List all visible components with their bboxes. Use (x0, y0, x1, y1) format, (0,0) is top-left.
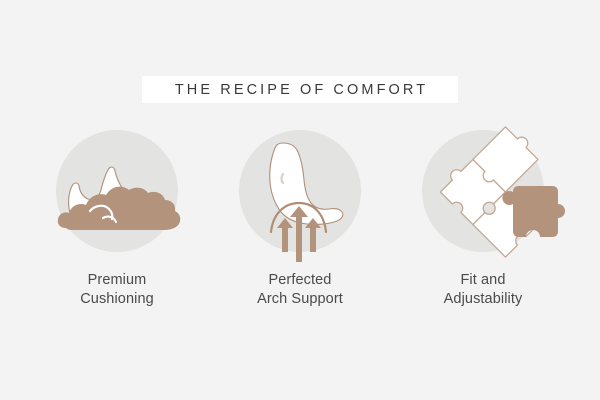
icon-circle-3 (422, 130, 544, 252)
icon-circle-1 (56, 130, 178, 252)
feature-label-1: Premium Cushioning (80, 271, 154, 309)
feature-item-premium-cushioning: Premium Cushioning (26, 130, 209, 309)
puzzle-pieces-icon (408, 120, 558, 270)
feature-label-3: Fit and Adjustability (444, 271, 523, 309)
cushioned-shoe-icon (42, 120, 192, 270)
feature-label-2-line1: Perfected (257, 271, 343, 290)
feature-list: Premium Cushioning (0, 130, 600, 309)
title-banner: THE RECIPE OF COMFORT (142, 76, 458, 103)
feature-label-3-line1: Fit and (444, 271, 523, 290)
feature-item-fit-adjustability: Fit and Adjustability (392, 130, 575, 309)
feature-label-2: Perfected Arch Support (257, 271, 343, 309)
icon-circle-2 (239, 130, 361, 252)
feature-label-1-line2: Cushioning (80, 290, 154, 309)
feature-label-1-line1: Premium (80, 271, 154, 290)
feature-item-arch-support: Perfected Arch Support (209, 130, 392, 309)
feature-label-2-line2: Arch Support (257, 290, 343, 309)
comfort-infographic: THE RECIPE OF COMFORT Premium Cushioning (0, 0, 600, 400)
page-title: THE RECIPE OF COMFORT (172, 82, 428, 98)
feature-label-3-line2: Adjustability (444, 290, 523, 309)
foot-arch-support-icon (225, 120, 375, 270)
